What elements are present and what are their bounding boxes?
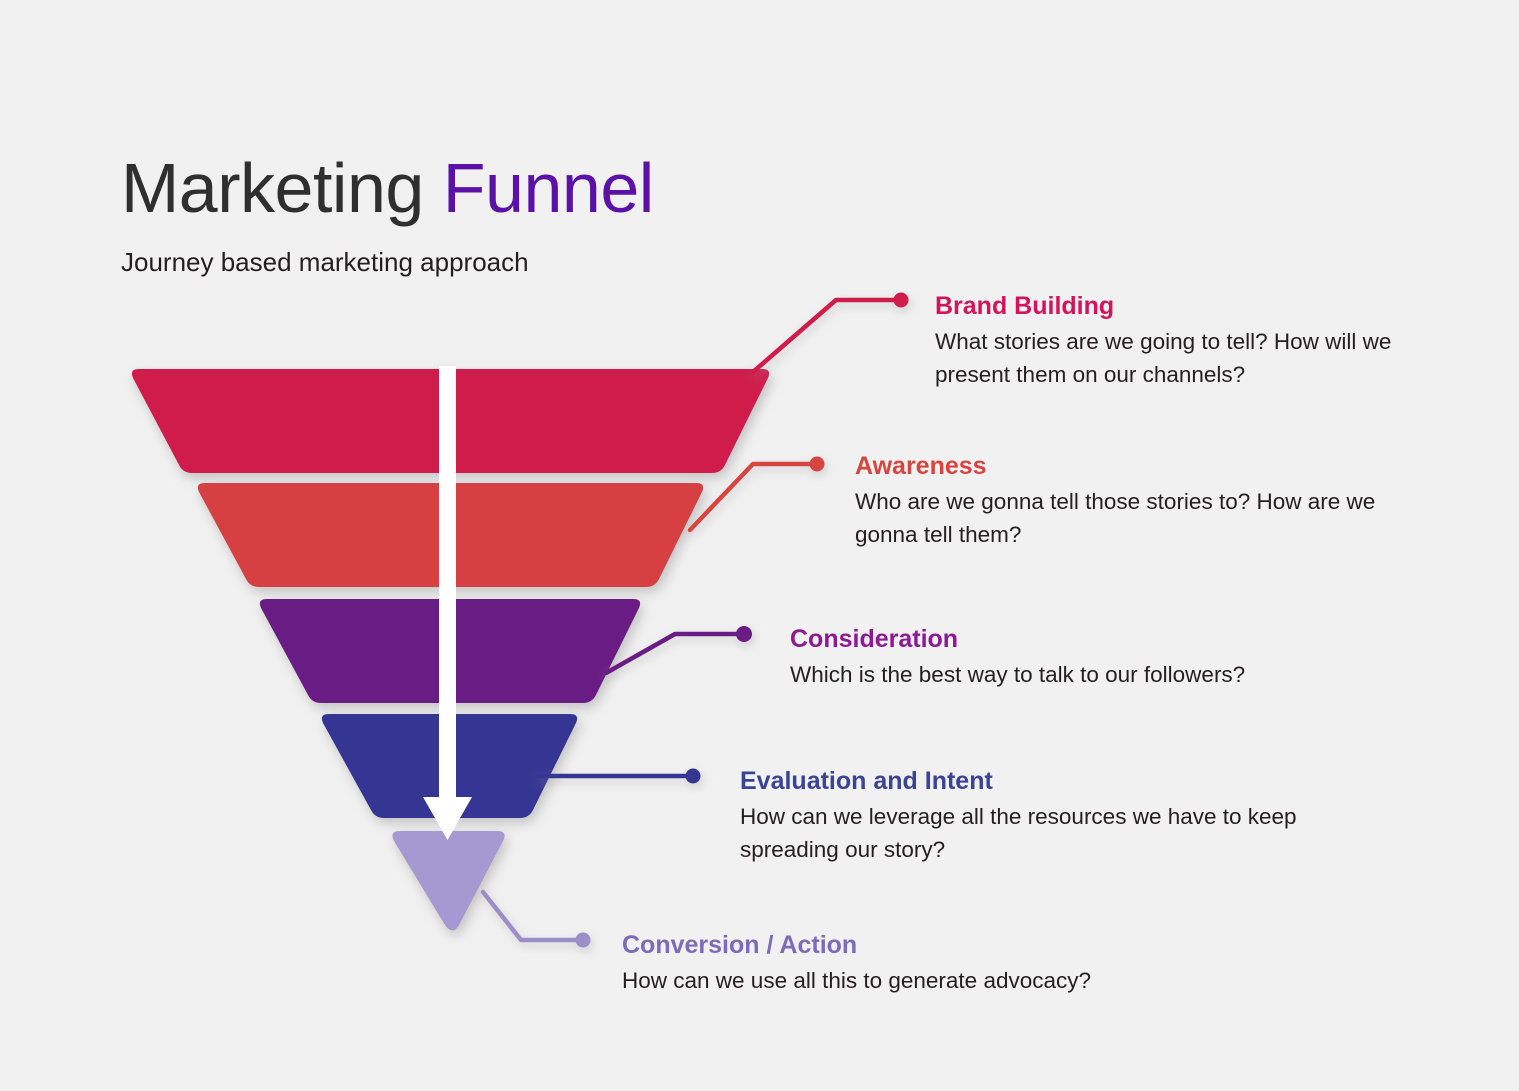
connector-brand-building (753, 293, 909, 373)
funnel-stage-evaluation-and-intent[interactable] (322, 714, 577, 818)
connector-dot-awareness (810, 457, 825, 472)
callout-conversion-action[interactable]: Conversion / Action How can we use all t… (622, 930, 1162, 997)
funnel-band-4 (322, 714, 577, 818)
callout-brand-building[interactable]: Brand Building What stories are we going… (935, 291, 1410, 391)
connector-consideration (606, 626, 752, 673)
funnel-infographic-canvas: Marketing Funnel Journey based marketing… (0, 0, 1519, 1091)
connector-dot-evaluation-and-intent (686, 769, 701, 784)
callout-awareness[interactable]: Awareness Who are we gonna tell those st… (855, 451, 1390, 551)
page-title-accent: Funnel (443, 149, 654, 227)
funnel-stage-consideration[interactable] (260, 599, 640, 703)
connector-dot-conversion-action (576, 933, 591, 948)
funnel-band-3 (260, 599, 640, 703)
callout-description-awareness: Who are we gonna tell those stories to? … (855, 481, 1390, 551)
callout-consideration[interactable]: Consideration Which is the best way to t… (790, 624, 1310, 691)
page-title: Marketing Funnel (121, 148, 921, 228)
connector-dot-consideration (736, 626, 752, 642)
funnel-band-5 (392, 831, 504, 931)
callout-description-brand-building: What stories are we going to tell? How w… (935, 321, 1410, 391)
callout-description-consideration: Which is the best way to talk to our fol… (790, 654, 1310, 691)
callout-description-conversion-action: How can we use all this to generate advo… (622, 960, 1162, 997)
callout-title-consideration: Consideration (790, 624, 1310, 654)
funnel-band-1 (132, 369, 769, 473)
callout-description-evaluation-and-intent: How can we leverage all the resources we… (740, 796, 1350, 866)
callout-title-brand-building: Brand Building (935, 291, 1410, 321)
funnel-stage-awareness[interactable] (198, 483, 703, 587)
callout-title-evaluation-and-intent: Evaluation and Intent (740, 766, 1350, 796)
callout-title-conversion-action: Conversion / Action (622, 930, 1162, 960)
funnel-band-2 (198, 483, 703, 587)
callout-evaluation-and-intent[interactable]: Evaluation and Intent How can we leverag… (740, 766, 1350, 866)
connector-evaluation-and-intent (538, 769, 701, 784)
flow-arrow-icon (423, 366, 472, 840)
funnel-stage-brand-building[interactable] (132, 369, 769, 473)
connector-conversion-action (483, 892, 591, 948)
page-title-main: Marketing (121, 149, 424, 227)
connector-dot-brand-building (894, 293, 909, 308)
funnel-stage-conversion-action[interactable] (392, 831, 504, 931)
header: Marketing Funnel Journey based marketing… (121, 148, 921, 278)
page-subtitle: Journey based marketing approach (121, 228, 921, 278)
callout-title-awareness: Awareness (855, 451, 1390, 481)
connector-awareness (690, 457, 825, 531)
